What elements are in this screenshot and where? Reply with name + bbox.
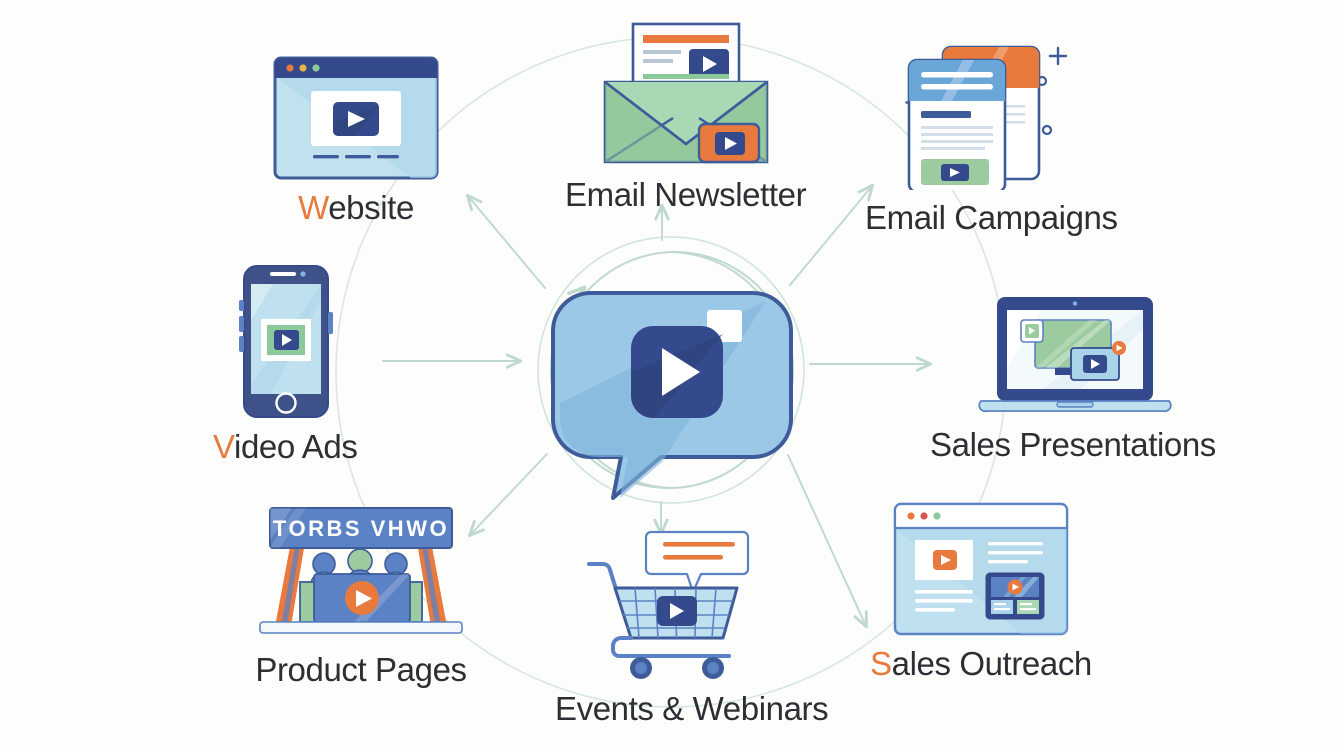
node-sales-presentations[interactable]: Sales Presentations	[930, 295, 1216, 463]
node-website[interactable]: Website	[273, 56, 439, 226]
email-newsletter-art	[581, 22, 791, 172]
trade-show-booth-video-icon: TORBS VHWO	[252, 500, 470, 642]
sales-outreach-label-accent: S	[870, 645, 892, 682]
node-email-newsletter[interactable]: Email Newsletter	[565, 22, 806, 213]
booth-banner-text: TORBS VHWO	[273, 516, 449, 541]
sales-outreach-label: Sales Outreach	[870, 647, 1092, 682]
node-email-campaigns[interactable]: Email Campaigns	[865, 35, 1118, 236]
website-label-accent: W	[298, 189, 328, 226]
decorative-dot-icon	[1043, 126, 1051, 134]
email-newsletter-label: Email Newsletter	[565, 178, 806, 213]
browser-window-video-icon	[273, 56, 439, 180]
sales-presentations-art	[973, 295, 1173, 422]
video-ads-art	[220, 264, 350, 424]
product-pages-art: TORBS VHWO	[252, 500, 470, 647]
envelope-letter-video-icon	[581, 22, 791, 167]
webpage-video-layout-icon	[893, 502, 1069, 636]
events-webinars-label: Events & Webinars	[555, 692, 828, 727]
diagram-canvas: Website	[0, 0, 1344, 752]
website-label-rest: ebsite	[328, 189, 414, 226]
website-label: Website	[298, 191, 414, 226]
smartphone-video-icon	[220, 264, 350, 419]
product-pages-label: Product Pages	[255, 653, 466, 688]
email-campaigns-label: Email Campaigns	[865, 201, 1118, 236]
events-webinars-label-rest: Events & Webinars	[555, 690, 828, 727]
sales-outreach-label-rest: ales Outreach	[892, 645, 1092, 682]
video-ads-label-rest: ideo Ads	[234, 428, 357, 465]
laptop-video-icon	[973, 295, 1173, 417]
shopping-cart-video-icon	[577, 526, 807, 681]
arrow-to-website	[468, 196, 545, 288]
speech-bubble-play-icon	[536, 238, 808, 500]
website-art	[273, 56, 439, 185]
sales-outreach-art	[893, 502, 1069, 641]
video-ads-label-accent: V	[213, 428, 234, 465]
center-hub[interactable]	[536, 238, 808, 500]
node-events-webinars[interactable]: Events & Webinars	[555, 526, 828, 727]
email-campaigns-label-rest: Email Campaigns	[865, 199, 1118, 236]
email-campaigns-art	[881, 35, 1101, 195]
email-newsletter-label-rest: Email Newsletter	[565, 176, 806, 213]
sales-presentations-label: Sales Presentations	[930, 428, 1216, 463]
node-product-pages[interactable]: TORBS VHWO Product Pages	[252, 500, 470, 688]
events-webinars-art	[577, 526, 807, 686]
video-ads-label: Video Ads	[213, 430, 357, 465]
node-video-ads[interactable]: Video Ads	[213, 264, 357, 465]
sales-presentations-label-rest: Sales Presentations	[930, 426, 1216, 463]
stacked-documents-video-icon	[881, 35, 1101, 190]
node-sales-outreach[interactable]: Sales Outreach	[870, 502, 1092, 682]
product-pages-label-rest: Product Pages	[255, 651, 466, 688]
